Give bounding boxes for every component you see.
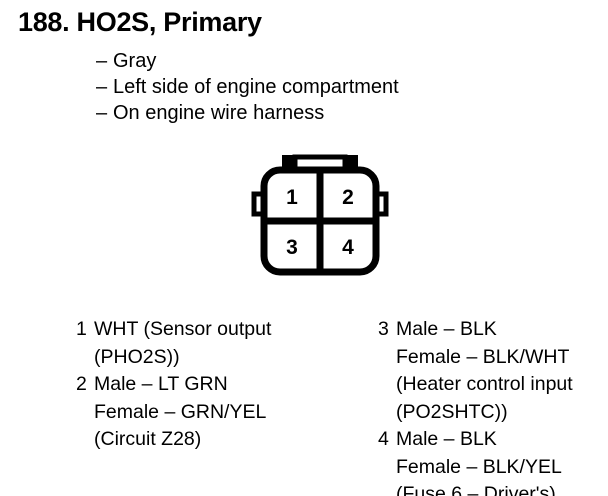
attribute-label: Left side of engine compartment — [113, 74, 399, 100]
attribute-item: – On engine wire harness — [96, 100, 399, 126]
attribute-item: – Left side of engine compartment — [96, 74, 399, 100]
connector-pin-label-2: 2 — [342, 186, 354, 209]
connector-reference-page: 188. HO2S, Primary – Gray – Left side of… — [0, 0, 608, 496]
pin-description-line: Female – BLK/YEL — [396, 454, 608, 482]
pin-description-line: (Circuit Z28) — [94, 426, 376, 454]
pin-description-line: (PO2SHTC)) — [396, 399, 608, 427]
pin-number: 3 — [378, 316, 396, 344]
pin-description: Male – BLK Female – BLK/YEL (Fuse 6 – Dr… — [396, 426, 608, 496]
dash-icon: – — [96, 74, 113, 100]
pin-entry: 1 WHT (Sensor output (PHO2S)) — [76, 316, 376, 371]
pin-number: 2 — [76, 371, 94, 399]
pin-description-line: WHT (Sensor output — [94, 316, 376, 344]
pin-number: 1 — [76, 316, 94, 344]
pin-description: WHT (Sensor output (PHO2S)) — [94, 316, 376, 371]
connector-pin-label-4: 4 — [342, 236, 354, 259]
pin-list-left-column: 1 WHT (Sensor output (PHO2S)) 2 Male – L… — [76, 316, 376, 454]
attribute-list: – Gray – Left side of engine compartment… — [96, 48, 399, 126]
pin-description-line: Female – BLK/WHT — [396, 344, 608, 372]
pin-description-line: Female – GRN/YEL — [94, 399, 376, 427]
connector-pin-label-3: 3 — [286, 236, 298, 259]
pin-description-line: Male – BLK — [396, 316, 608, 344]
pin-number: 4 — [378, 426, 396, 454]
pin-entry: 4 Male – BLK Female – BLK/YEL (Fuse 6 – … — [378, 426, 608, 496]
attribute-label: On engine wire harness — [113, 100, 324, 126]
connector-diagram: 1 2 3 4 — [228, 146, 412, 286]
attribute-item: – Gray — [96, 48, 399, 74]
pin-description-line: (Heater control input — [396, 371, 608, 399]
page-title: 188. HO2S, Primary — [18, 8, 262, 36]
pin-description: Male – BLK Female – BLK/WHT (Heater cont… — [396, 316, 608, 426]
pin-description-line: (Fuse 6 – Driver's) — [396, 481, 608, 496]
pin-description-line: Male – BLK — [396, 426, 608, 454]
attribute-label: Gray — [113, 48, 156, 74]
pin-list-right-column: 3 Male – BLK Female – BLK/WHT (Heater co… — [378, 316, 608, 496]
pin-description: Male – LT GRN Female – GRN/YEL (Circuit … — [94, 371, 376, 454]
pin-entry: 2 Male – LT GRN Female – GRN/YEL (Circui… — [76, 371, 376, 454]
pin-description-line: (PHO2S)) — [94, 344, 376, 372]
dash-icon: – — [96, 100, 113, 126]
dash-icon: – — [96, 48, 113, 74]
connector-pin-label-1: 1 — [286, 186, 298, 209]
pin-entry: 3 Male – BLK Female – BLK/WHT (Heater co… — [378, 316, 608, 426]
pin-description-line: Male – LT GRN — [94, 371, 376, 399]
